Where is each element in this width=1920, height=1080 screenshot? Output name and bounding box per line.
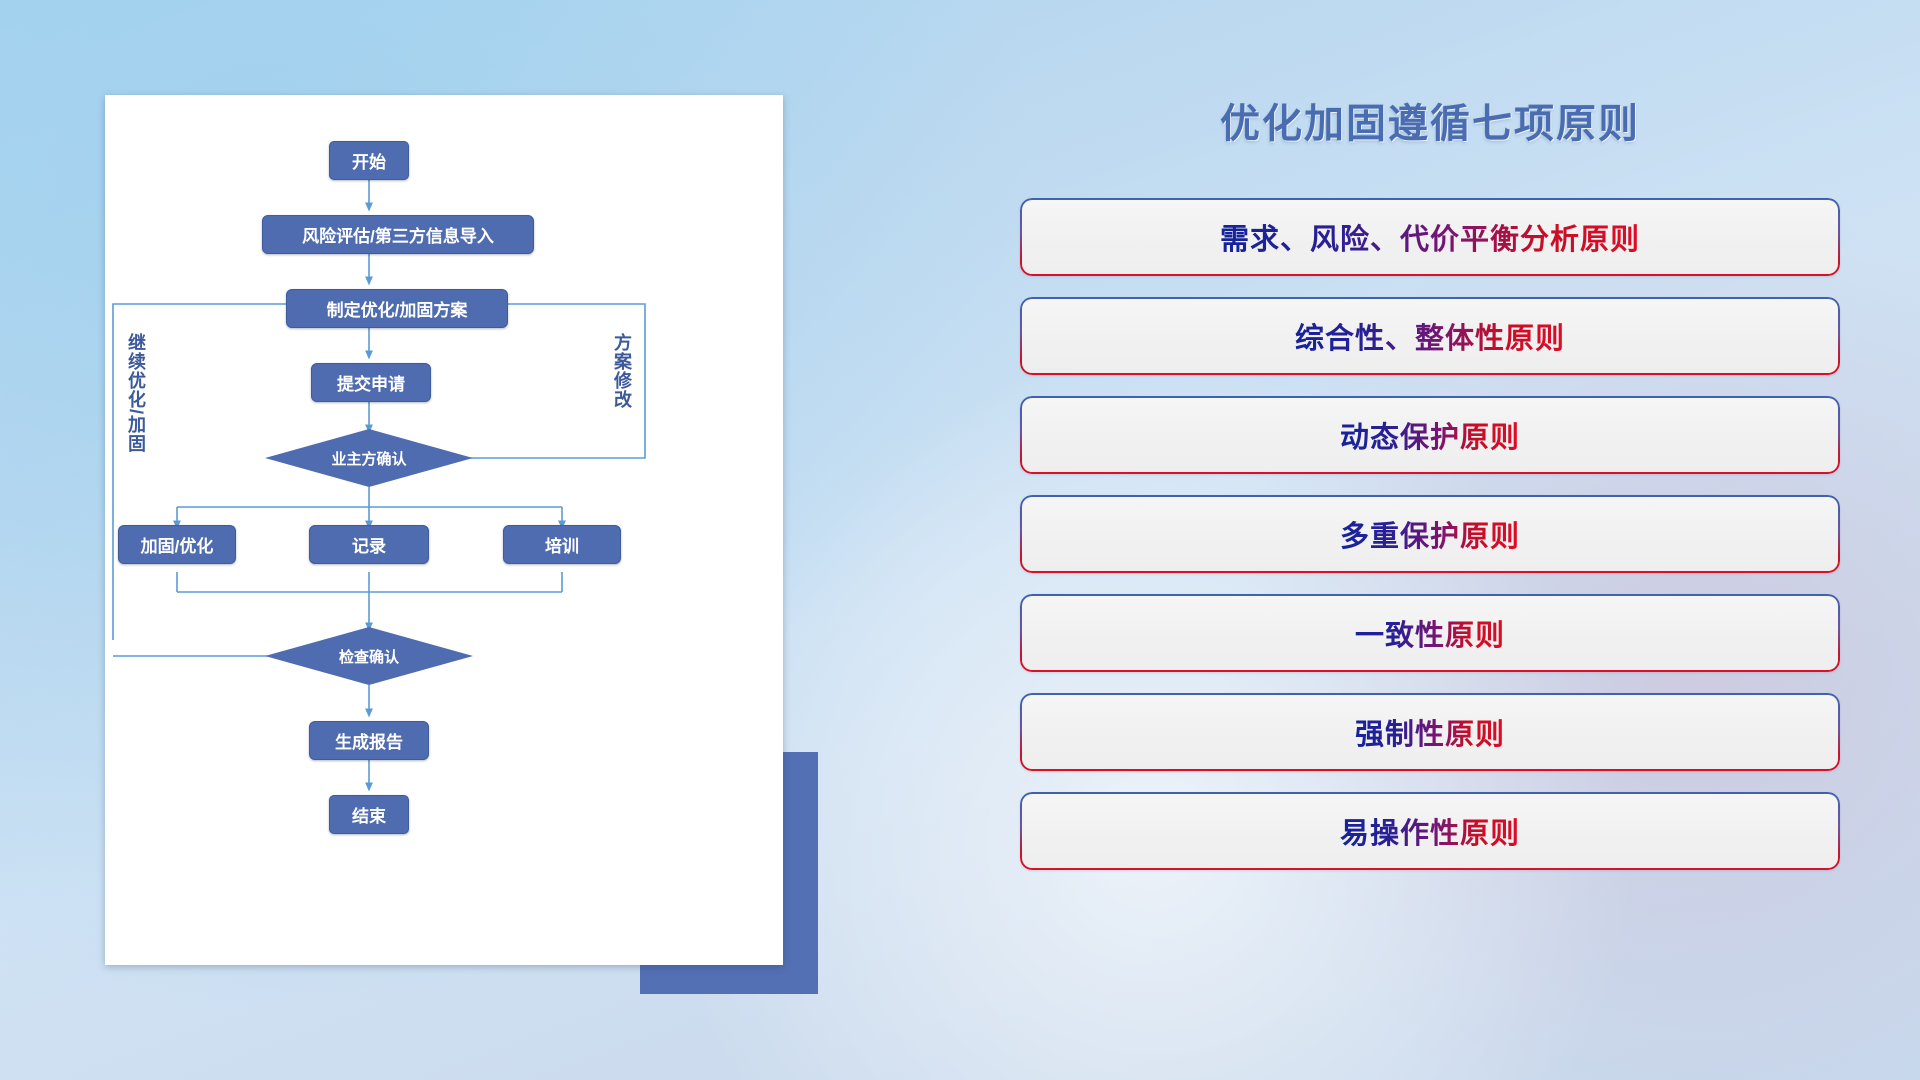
principle-item-label: 易操作性原则 [1340,810,1520,852]
flow-node-check-confirm-label: 检查确认 [339,646,399,667]
flow-edge-label-continue-optimize: 继续优化/加固 [127,333,145,453]
principles-list: 需求、风险、代价平衡分析原则 综合性、整体性原则 动态保护原则 多重保护原则 一… [1020,198,1840,870]
principle-item-label: 动态保护原则 [1340,414,1520,456]
flow-node-submit-label: 提交申请 [337,370,405,395]
principles-panel: 优化加固遵循七项原则 需求、风险、代价平衡分析原则 综合性、整体性原则 动态保护… [1020,80,1840,1020]
flow-node-reinforce[interactable]: 加固/优化 [118,525,236,564]
principle-item[interactable]: 强制性原则 [1020,693,1840,771]
flow-node-start[interactable]: 开始 [329,141,409,180]
principle-item[interactable]: 动态保护原则 [1020,396,1840,474]
flow-node-start-label: 开始 [352,148,386,173]
flow-node-owner-confirm-label: 业主方确认 [331,448,406,469]
flow-node-plan-label: 制定优化/加固方案 [327,296,468,321]
flow-node-training-label: 培训 [545,532,579,557]
principle-item-label: 一致性原则 [1355,612,1505,654]
flow-node-plan[interactable]: 制定优化/加固方案 [286,289,508,328]
flow-node-end[interactable]: 结束 [329,795,409,834]
flow-node-training[interactable]: 培训 [503,525,621,564]
flow-node-submit[interactable]: 提交申请 [311,363,431,402]
flow-node-reinforce-label: 加固/优化 [141,532,214,557]
principle-item[interactable]: 一致性原则 [1020,594,1840,672]
flow-node-report[interactable]: 生成报告 [309,721,429,760]
principle-item[interactable]: 易操作性原则 [1020,792,1840,870]
principle-item-label: 综合性、整体性原则 [1295,315,1565,357]
slide-canvas: 开始 风险评估/第三方信息导入 制定优化/加固方案 提交申请 业主方确认 加固/… [0,0,1920,1080]
flow-node-record[interactable]: 记录 [309,525,429,564]
principle-item-label: 多重保护原则 [1340,513,1520,555]
flow-node-risk-assessment[interactable]: 风险评估/第三方信息导入 [262,215,534,254]
principle-item[interactable]: 多重保护原则 [1020,495,1840,573]
principle-item-label: 需求、风险、代价平衡分析原则 [1220,216,1640,258]
panel-title: 优化加固遵循七项原则 [1020,100,1840,148]
flow-node-check-confirm[interactable]: 检查确认 [265,627,473,685]
flow-node-owner-confirm[interactable]: 业主方确认 [265,429,473,487]
flow-node-report-label: 生成报告 [335,728,403,753]
flow-edge-label-plan-revision: 方案修改 [613,333,631,409]
principle-item[interactable]: 需求、风险、代价平衡分析原则 [1020,198,1840,276]
flow-node-risk-assessment-label: 风险评估/第三方信息导入 [302,222,494,247]
principle-item[interactable]: 综合性、整体性原则 [1020,297,1840,375]
flowchart-card: 开始 风险评估/第三方信息导入 制定优化/加固方案 提交申请 业主方确认 加固/… [105,95,783,965]
flow-node-record-label: 记录 [352,532,386,557]
flow-node-end-label: 结束 [352,802,386,827]
principle-item-label: 强制性原则 [1355,711,1505,753]
